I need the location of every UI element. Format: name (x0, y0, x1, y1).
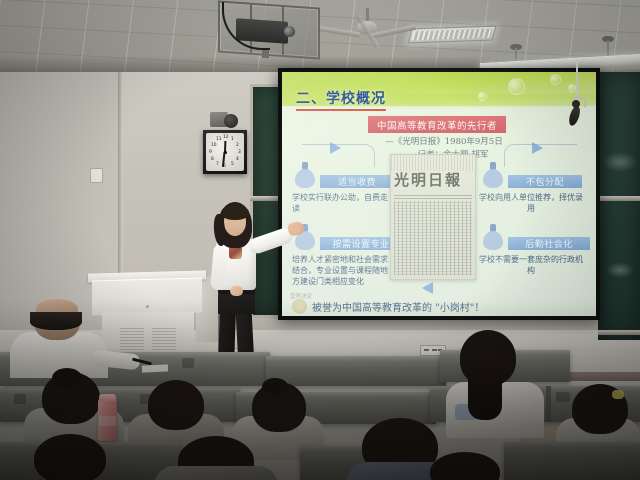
attendee-shoulders (154, 466, 278, 480)
arrow-left-icon (422, 282, 433, 294)
slide-item-desc: 学校向用人单位推荐，择优录用 (478, 192, 584, 214)
projector-lens-icon (284, 26, 295, 37)
slide-bottom-statement: 被誉为中国高等教育改革的 "小岗村"！ (312, 299, 484, 314)
clock-numeral: 7 (216, 162, 219, 167)
classroom-scene: 12 1 2 3 4 5 6 7 8 9 10 11 二、学校概况 中国高等教育… (0, 0, 640, 480)
presenter-arm-raised (247, 226, 294, 255)
slide-red-banner: 中国高等教育改革的先行者 (368, 116, 506, 133)
slide-item-desc: 培养人才紧密地和社会需求结合，专业设置与课程随地方建设门类相应变化 (292, 254, 392, 287)
clock-numeral: 10 (211, 143, 217, 148)
clock-center-pin (224, 151, 227, 154)
arrow-right-icon (532, 142, 543, 154)
slide-item-tab: 后勤社会化 (508, 237, 590, 250)
attendee-hair-bun (52, 368, 82, 388)
decorative-bubble (568, 84, 576, 92)
thermos-cap (99, 394, 116, 401)
newspaper-masthead: 光明日報 (394, 169, 472, 193)
attendee-hair (30, 312, 82, 330)
hair-clip (612, 390, 624, 399)
pendant-rod (607, 40, 609, 56)
person-icon (482, 162, 504, 188)
pendant-rod (515, 48, 517, 62)
presenter-hair-fringe (221, 205, 249, 220)
slide-item-tab: 适当收费 (320, 175, 394, 188)
decorative-bubble (550, 74, 561, 85)
recessed-ceiling-light (407, 26, 496, 44)
slide-canvas: 二、学校概况 中国高等教育改革的先行者 —《光明日报》1980年9月5日 记者：… (282, 72, 596, 316)
presenter-pointing-hand (287, 220, 306, 236)
chalk-rail (598, 196, 640, 201)
attendee-head (148, 380, 204, 430)
slide-citation-source: —《光明日报》1980年9月5日 (364, 135, 524, 147)
clock-numeral: 4 (236, 157, 239, 162)
clock-numeral: 2 (236, 143, 239, 148)
wall-clock: 12 1 2 3 4 5 6 7 8 9 10 11 (203, 130, 247, 174)
thermos-label (99, 416, 116, 426)
ceiling-fan (330, 8, 404, 52)
presenter-hand (230, 286, 243, 296)
bench-row (266, 356, 446, 386)
slide-item-tab: 不包分配 (508, 175, 582, 188)
presenter (196, 200, 304, 370)
newspaper-clipping: 光明日報 (390, 154, 476, 280)
chalk-rail (598, 330, 640, 335)
clock-face: 12 1 2 3 4 5 6 7 8 9 10 11 (206, 133, 244, 171)
speaker-cone-icon (224, 114, 238, 128)
hanging-microphone (566, 100, 586, 128)
person-icon (294, 162, 316, 188)
paper-sheet (142, 364, 168, 372)
clock-numeral: 3 (238, 150, 241, 155)
attendee-hair-bun (262, 378, 288, 395)
clock-numeral: 9 (209, 150, 212, 155)
wall-switch[interactable] (90, 168, 103, 183)
slide-item-desc: 学校不需要一套庞杂的行政机构 (478, 254, 584, 276)
clock-numeral: 11 (216, 137, 222, 142)
attendee-head (34, 434, 106, 480)
decorative-bubble (478, 92, 487, 101)
person-icon (482, 224, 504, 250)
chalkboard-right (598, 72, 640, 340)
attendee-ponytail (468, 356, 502, 420)
arrow-right-icon (330, 142, 341, 154)
slide-item-desc: 学校实行联办公助，自费走读 (292, 192, 390, 214)
decorative-bubble (508, 78, 525, 95)
clock-numeral: 5 (231, 162, 234, 167)
microphone-cable (576, 60, 578, 100)
clock-numeral: 8 (211, 157, 214, 162)
slide-title: 二、学校概况 (296, 88, 386, 111)
projection-screen: 二、学校概况 中国高等教育改革的先行者 —《光明日报》1980年9月5日 记者：… (278, 68, 600, 320)
clock-numeral: 12 (223, 135, 229, 140)
clock-numeral: 1 (231, 137, 234, 142)
bench-row (504, 442, 640, 480)
